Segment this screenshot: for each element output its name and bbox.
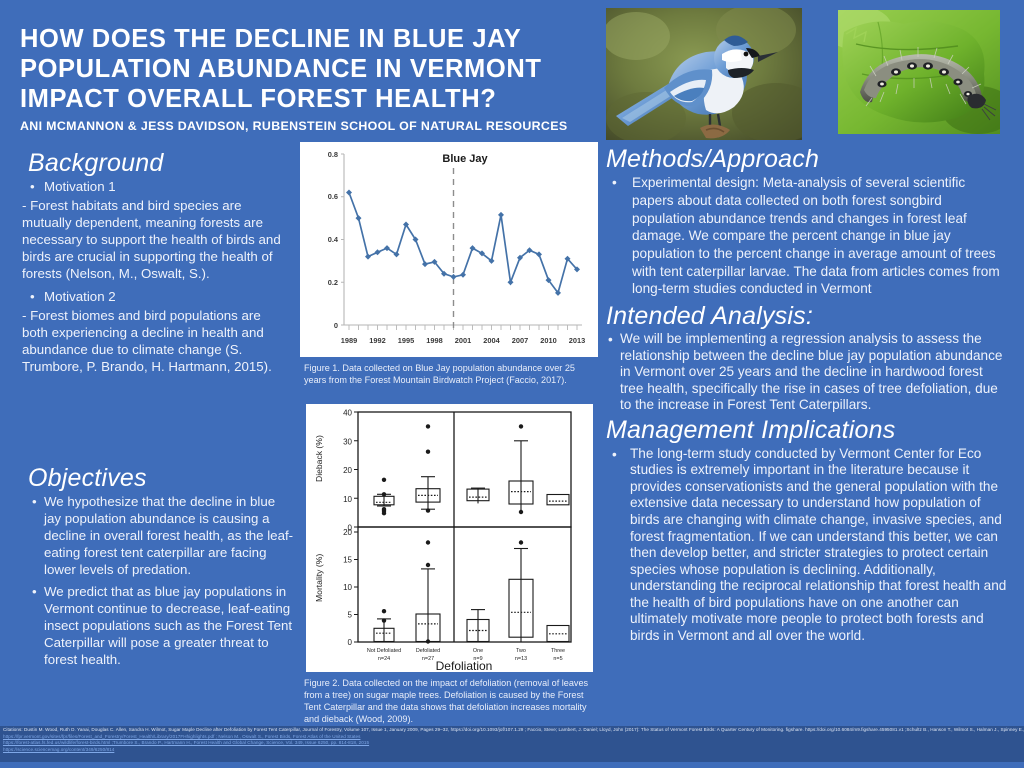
bullet-icon: • xyxy=(22,583,44,668)
methods-section: Methods/Approach • Experimental design: … xyxy=(606,146,1008,298)
figures-column: Blue Jay 0.8 0.6 0.4 0.2 0 xyxy=(300,142,598,726)
background-section: Background • Motivation 1 - Forest habit… xyxy=(22,150,290,381)
citation-line[interactable]: https://science.sciencemag.org/content/3… xyxy=(3,747,1021,754)
svg-text:2010: 2010 xyxy=(540,336,556,345)
svg-text:5: 5 xyxy=(348,611,353,620)
mortality-axis-label: Mortality (%) xyxy=(314,554,324,602)
svg-text:2001: 2001 xyxy=(455,336,471,345)
objectives-bullet: • We predict that as blue jay population… xyxy=(22,583,294,668)
bullet-icon: • xyxy=(22,493,44,578)
defoliation-axis-label: Defoliation xyxy=(436,659,493,672)
svg-text:0.6: 0.6 xyxy=(328,192,338,201)
intended-analysis-heading: Intended Analysis: xyxy=(606,303,1008,329)
figure-1-caption: Figure 1. Data collected on Blue Jay pop… xyxy=(304,362,596,386)
category-label: Two xyxy=(516,648,526,654)
bottom-strip xyxy=(0,762,1024,768)
figure-2-panel: Dieback (%) 40 30 20 10 0 xyxy=(306,404,593,672)
svg-text:20: 20 xyxy=(343,466,352,475)
methods-bullet: • Experimental design: Meta-analysis of … xyxy=(606,174,1008,298)
svg-text:1989: 1989 xyxy=(341,336,357,345)
figure-2-box-plots: Dieback (%) 40 30 20 10 0 xyxy=(306,404,593,672)
background-item-label: - Forest habitats and bird species are m… xyxy=(22,197,290,282)
blue-jay-illustration xyxy=(606,8,802,140)
svg-text:0.8: 0.8 xyxy=(328,150,338,159)
category-label: Not Defoliated xyxy=(367,648,401,654)
background-item: • Motivation 2 xyxy=(22,288,290,305)
svg-text:10: 10 xyxy=(343,583,352,592)
figure-2-caption: Figure 2. Data collected on the impact o… xyxy=(304,677,596,725)
objectives-section: Objectives • We hypothesize that the dec… xyxy=(22,465,294,673)
objectives-heading: Objectives xyxy=(28,465,294,491)
bullet-icon: • xyxy=(22,178,44,195)
objectives-bullet-label: We predict that as blue jay populations … xyxy=(44,583,294,668)
blue-jay-photo xyxy=(606,8,802,140)
category-n: n=13 xyxy=(515,656,527,662)
bullet-icon: • xyxy=(22,288,44,305)
svg-text:0.2: 0.2 xyxy=(328,278,338,287)
intended-analysis-bullet-label: We will be implementing a regression ana… xyxy=(620,331,1008,413)
svg-text:0: 0 xyxy=(348,638,353,647)
dieback-axis-label: Dieback (%) xyxy=(314,435,324,482)
svg-text:0: 0 xyxy=(334,321,338,330)
poster-header: HOW DOES THE DECLINE IN BLUE JAY POPULAT… xyxy=(20,24,600,134)
bullet-icon: • xyxy=(606,174,632,298)
svg-text:30: 30 xyxy=(343,437,352,446)
methods-bullet-label: Experimental design: Meta-analysis of se… xyxy=(632,174,1008,298)
background-item-label: Motivation 2 xyxy=(44,288,290,305)
right-column: Methods/Approach • Experimental design: … xyxy=(606,142,1008,645)
intended-analysis-bullet: • We will be implementing a regression a… xyxy=(606,331,1008,413)
svg-text:2013: 2013 xyxy=(569,336,585,345)
svg-text:15: 15 xyxy=(343,556,352,565)
background-item: • Motivation 1 xyxy=(22,178,290,195)
background-item-label: - Forest biomes and bird populations are… xyxy=(22,307,290,375)
svg-text:1995: 1995 xyxy=(398,336,414,345)
category-label: Defoliated xyxy=(416,648,440,654)
svg-text:20: 20 xyxy=(343,528,352,537)
page-title: HOW DOES THE DECLINE IN BLUE JAY POPULAT… xyxy=(20,24,600,114)
svg-text:0.4: 0.4 xyxy=(328,235,339,244)
forest-tent-caterpillar-photo xyxy=(838,10,1000,134)
citations-bar: Citations: Dustin M. Wood, Ruth D. Yanai… xyxy=(0,726,1024,762)
intended-analysis-section: Intended Analysis: • We will be implemen… xyxy=(606,303,1008,413)
management-bullet: • The long-term study conducted by Vermo… xyxy=(606,446,1008,645)
category-n: n=5 xyxy=(553,656,562,662)
caterpillar-illustration xyxy=(838,10,1000,134)
management-implications-section: Management Implications • The long-term … xyxy=(606,417,1008,644)
chart-title: Blue Jay xyxy=(442,153,488,165)
methods-heading: Methods/Approach xyxy=(606,146,1008,172)
objectives-bullet-label: We hypothesize that the decline in blue … xyxy=(44,493,294,578)
category-n: n=27 xyxy=(422,656,434,662)
bullet-icon: • xyxy=(606,446,630,645)
figure-1-panel: Blue Jay 0.8 0.6 0.4 0.2 0 xyxy=(300,142,598,357)
management-bullet-label: The long-term study conducted by Vermont… xyxy=(630,446,1008,645)
bullet-icon: • xyxy=(606,331,620,413)
svg-text:2004: 2004 xyxy=(483,336,500,345)
background-heading: Background xyxy=(28,150,290,176)
management-heading: Management Implications xyxy=(606,417,1008,443)
category-label: Three xyxy=(551,648,565,654)
figure-1-line-chart: Blue Jay 0.8 0.6 0.4 0.2 0 xyxy=(300,142,598,357)
poster-authors: ANI MCMANNON & JESS DAVIDSON, RUBENSTEIN… xyxy=(20,119,600,134)
svg-text:2007: 2007 xyxy=(512,336,528,345)
category-label: One xyxy=(473,648,483,654)
background-item-label: Motivation 1 xyxy=(44,178,290,195)
category-n: n=24 xyxy=(378,656,390,662)
svg-text:40: 40 xyxy=(343,409,352,418)
objectives-bullet: • We hypothesize that the decline in blu… xyxy=(22,493,294,578)
svg-text:1992: 1992 xyxy=(369,336,385,345)
svg-text:10: 10 xyxy=(343,495,352,504)
svg-text:1998: 1998 xyxy=(426,336,442,345)
citation-line: Citations: Dustin M. Wood, Ruth D. Yanai… xyxy=(3,727,1021,734)
